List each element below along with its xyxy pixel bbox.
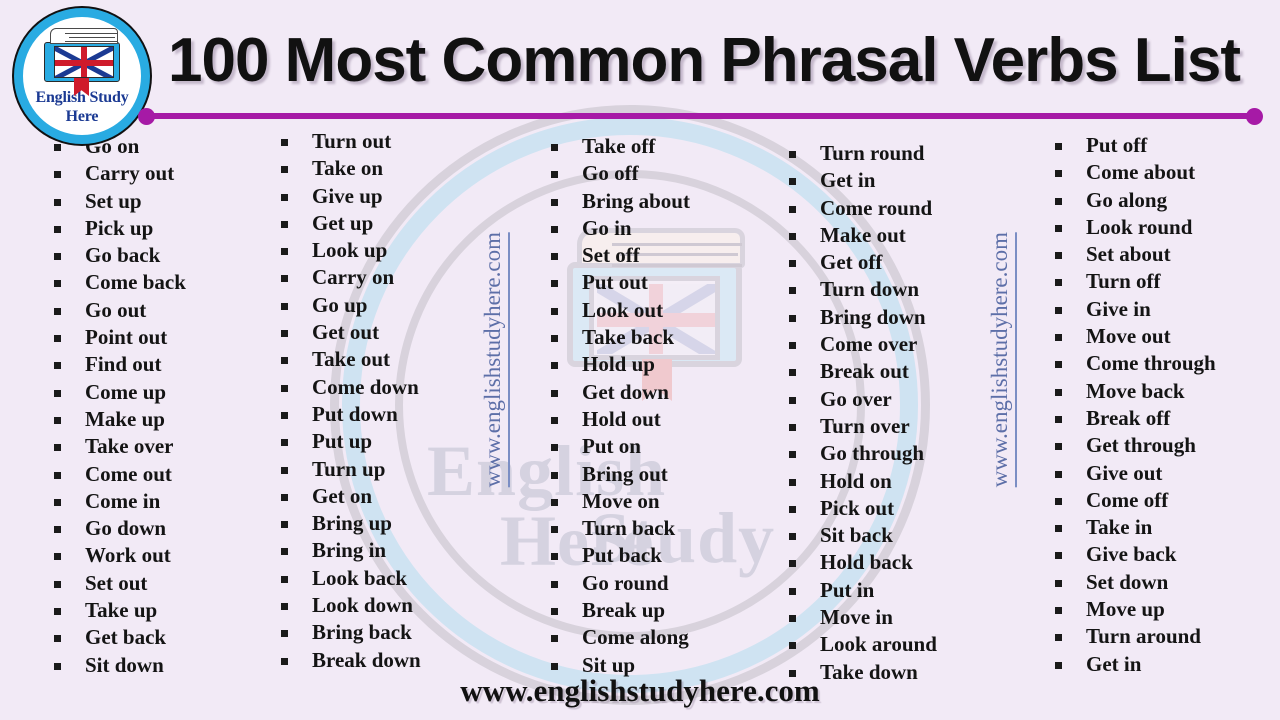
list-item: Work out	[48, 542, 257, 569]
list-item: Come in	[48, 488, 257, 515]
list-item: Move out	[1049, 323, 1280, 350]
list-item: Take off	[545, 133, 767, 160]
list-item: Make out	[783, 222, 1035, 249]
list-item: Come back	[48, 269, 257, 296]
title-rule-dot-right	[1246, 108, 1263, 125]
list-item: Bring in	[275, 537, 529, 564]
list-item: Come about	[1049, 159, 1280, 186]
list-item: Put off	[1049, 132, 1280, 159]
list-item: Get through	[1049, 432, 1280, 459]
list-item: Give up	[275, 183, 529, 210]
list-item: Come down	[275, 374, 529, 401]
list-item: Come over	[783, 331, 1035, 358]
list-item: Carry out	[48, 160, 257, 187]
verb-column-2: Turn out Take on Give up Get up Look up …	[257, 128, 529, 680]
list-item: Move in	[783, 604, 1035, 631]
list-item: Bring about	[545, 188, 767, 215]
list-item: Look down	[275, 592, 529, 619]
list-item: Break up	[545, 597, 767, 624]
list-item: Bring up	[275, 510, 529, 537]
list-item: Give back	[1049, 541, 1280, 568]
list-item: Put out	[545, 269, 767, 296]
list-item: Go in	[545, 215, 767, 242]
list-item: Get off	[783, 249, 1035, 276]
list-item: Come along	[545, 624, 767, 651]
list-item: Go down	[48, 515, 257, 542]
list-item: Turn around	[1049, 623, 1280, 650]
list-item: Hold up	[545, 351, 767, 378]
list-item: Go through	[783, 440, 1035, 467]
list-item: Bring down	[783, 304, 1035, 331]
list-item: Set about	[1049, 241, 1280, 268]
list-item: Turn round	[783, 140, 1035, 167]
list-item: Turn up	[275, 456, 529, 483]
list-item: Take back	[545, 324, 767, 351]
list-item: Go back	[48, 242, 257, 269]
list-item: Put back	[545, 542, 767, 569]
list-item: Get back	[48, 624, 257, 651]
list-item: Put up	[275, 428, 529, 455]
verb-list-5: Put off Come about Go along Look round S…	[1049, 132, 1280, 678]
list-item: Find out	[48, 351, 257, 378]
verb-list-4: Turn round Get in Come round Make out Ge…	[783, 140, 1035, 686]
page-title: 100 Most Common Phrasal Verbs List	[168, 30, 1240, 92]
list-item: Bring out	[545, 461, 767, 488]
page-header: English Study Here 100 Most Common Phras…	[0, 0, 1280, 128]
list-item: Move on	[545, 488, 767, 515]
list-item: Put on	[545, 433, 767, 460]
list-item: Look around	[783, 631, 1035, 658]
verb-list-2: Turn out Take on Give up Get up Look up …	[275, 128, 529, 674]
list-item: Break out	[783, 358, 1035, 385]
verb-list-1: Go on Carry out Set up Pick up Go back C…	[48, 133, 257, 679]
list-item: Come through	[1049, 350, 1280, 377]
list-item: Break off	[1049, 405, 1280, 432]
list-item: Get down	[545, 379, 767, 406]
list-item: Break down	[275, 647, 529, 674]
list-item: Pick up	[48, 215, 257, 242]
title-divider-rule	[140, 113, 1259, 119]
list-item: Take on	[275, 155, 529, 182]
list-item: Turn down	[783, 276, 1035, 303]
list-item: Hold on	[783, 468, 1035, 495]
logo-text-line1: English Study	[35, 89, 128, 108]
list-item: Take up	[48, 597, 257, 624]
logo-book-icon	[44, 28, 120, 86]
list-item: Turn back	[545, 515, 767, 542]
list-item: Look out	[545, 297, 767, 324]
list-item: Move back	[1049, 378, 1280, 405]
list-item: Come up	[48, 379, 257, 406]
list-item: Make up	[48, 406, 257, 433]
list-item: Set down	[1049, 569, 1280, 596]
list-item: Turn out	[275, 128, 529, 155]
list-item: Come out	[48, 461, 257, 488]
list-item: Carry on	[275, 264, 529, 291]
list-item: Move up	[1049, 596, 1280, 623]
list-item: Go round	[545, 570, 767, 597]
phrasal-verbs-columns: Go on Carry out Set up Pick up Go back C…	[0, 128, 1280, 680]
list-item: Go up	[275, 292, 529, 319]
list-item: Hold back	[783, 549, 1035, 576]
title-rule-dot-left	[138, 108, 155, 125]
list-item: Point out	[48, 324, 257, 351]
list-item: Set out	[48, 570, 257, 597]
footer-website-url[interactable]: www.englishstudyhere.com	[460, 673, 819, 709]
logo-text: English Study Here	[35, 89, 128, 127]
page-footer: www.englishstudyhere.com	[0, 673, 1280, 709]
verb-column-3: Take off Go off Bring about Go in Set of…	[529, 128, 767, 680]
verb-list-3: Take off Go off Bring about Go in Set of…	[545, 133, 767, 679]
list-item: Pick out	[783, 495, 1035, 522]
list-item: Sit back	[783, 522, 1035, 549]
list-item: Turn off	[1049, 268, 1280, 295]
list-item: Go along	[1049, 187, 1280, 214]
verb-column-1: Go on Carry out Set up Pick up Go back C…	[0, 128, 257, 680]
list-item: Put in	[783, 577, 1035, 604]
list-item: Turn over	[783, 413, 1035, 440]
list-item: Look round	[1049, 214, 1280, 241]
list-item: Get out	[275, 319, 529, 346]
list-item: Set up	[48, 188, 257, 215]
list-item: Go out	[48, 297, 257, 324]
list-item: Look back	[275, 565, 529, 592]
list-item: Go over	[783, 386, 1035, 413]
list-item: Put down	[275, 401, 529, 428]
verb-column-4: Turn round Get in Come round Make out Ge…	[767, 128, 1035, 680]
list-item: Bring back	[275, 619, 529, 646]
list-item: Get up	[275, 210, 529, 237]
list-item: Set off	[545, 242, 767, 269]
list-item: Take over	[48, 433, 257, 460]
verb-column-5: Put off Come about Go along Look round S…	[1035, 128, 1280, 680]
list-item: Take in	[1049, 514, 1280, 541]
list-item: Come round	[783, 195, 1035, 222]
list-item: Hold out	[545, 406, 767, 433]
logo-text-line2: Here	[35, 108, 128, 127]
site-logo[interactable]: English Study Here	[14, 8, 150, 144]
list-item: Come off	[1049, 487, 1280, 514]
logo-uk-flag-icon	[54, 46, 114, 78]
list-item: Go off	[545, 160, 767, 187]
list-item: Get in	[783, 167, 1035, 194]
list-item: Give in	[1049, 296, 1280, 323]
list-item: Look up	[275, 237, 529, 264]
list-item: Get on	[275, 483, 529, 510]
list-item: Take out	[275, 346, 529, 373]
list-item: Give out	[1049, 460, 1280, 487]
